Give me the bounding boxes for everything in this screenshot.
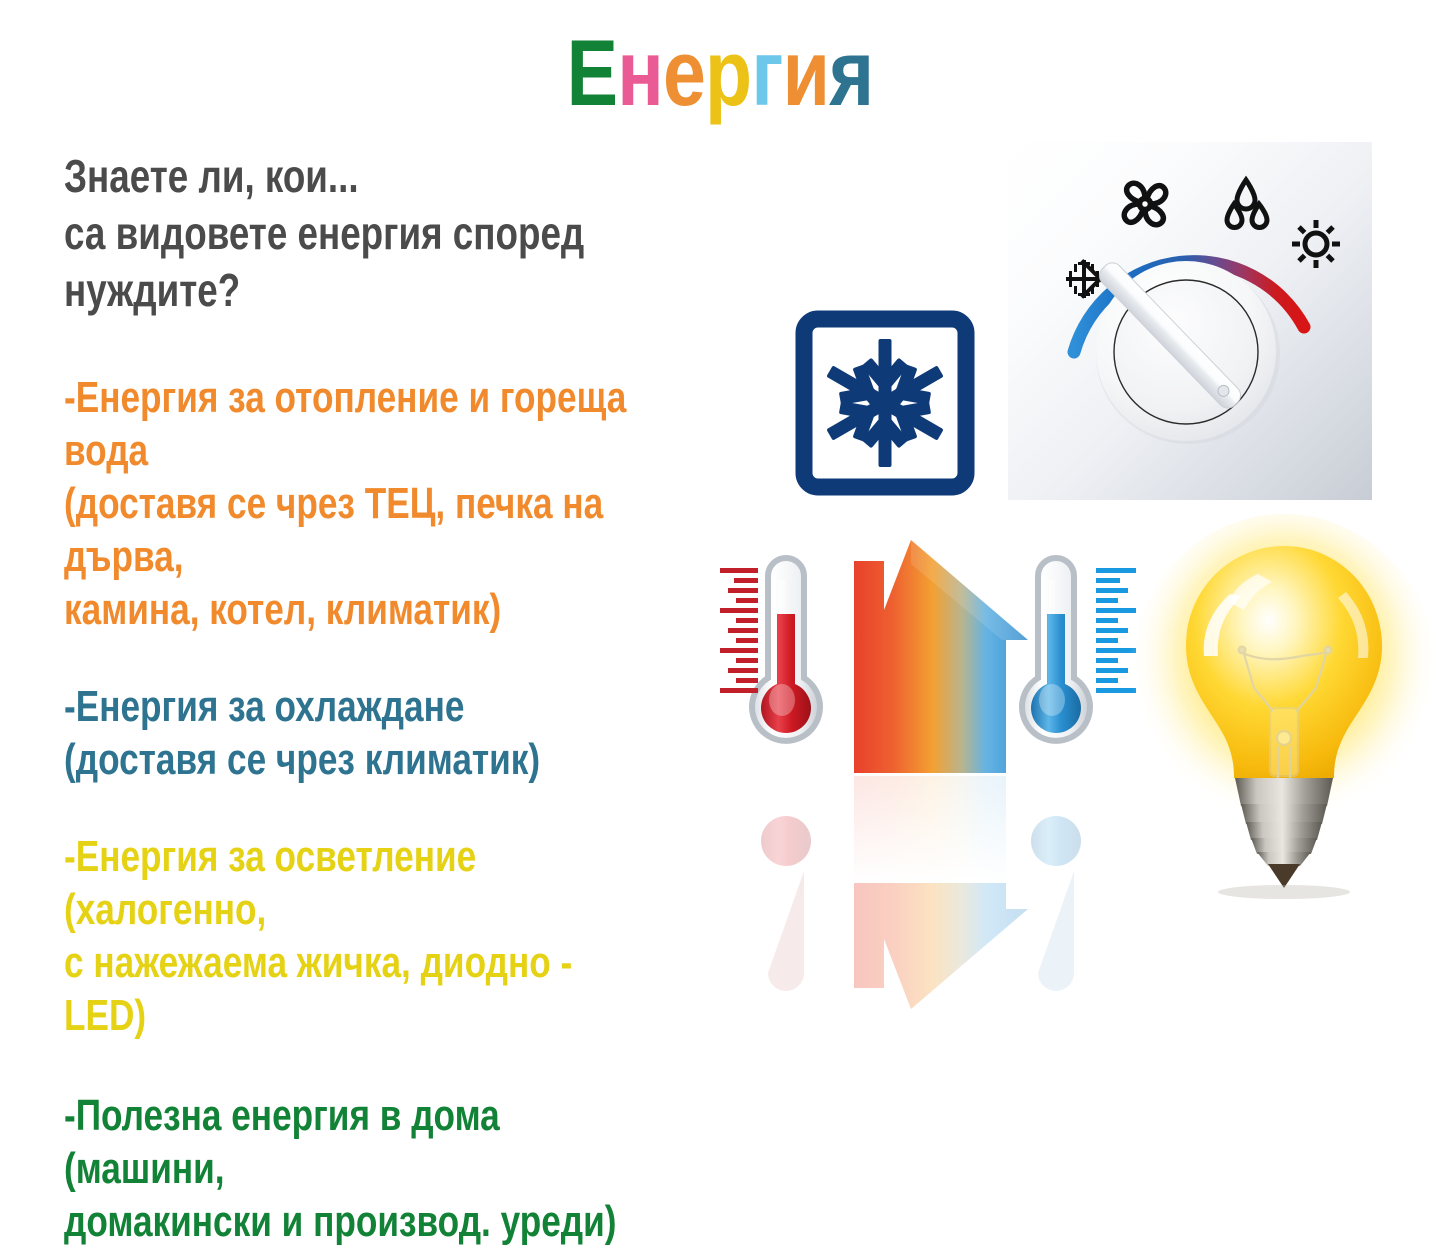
thermostat-dial-photo — [1008, 142, 1372, 500]
snowflake-badge-icon — [795, 310, 975, 496]
title-letter-1: Е — [567, 26, 618, 120]
energy-item-appliances: -Полезна енергия в дома (машини, домакин… — [64, 1089, 656, 1248]
reflection-fade — [826, 773, 1056, 883]
sun-icon — [1292, 220, 1340, 268]
fan-icon — [1124, 183, 1166, 225]
title-letter-2: н — [617, 26, 663, 120]
energy-item-lighting: -Енергия за осветление (халогенно, с наж… — [64, 830, 656, 1042]
content-text-column: Знаете ли, кои... са видовете енергия сп… — [64, 148, 804, 1248]
title-letter-6: и — [783, 26, 830, 120]
bulb-shadow — [1218, 885, 1350, 899]
title-letter-3: е — [663, 26, 705, 120]
house-shape — [854, 540, 1028, 773]
thermostat-svg — [1008, 142, 1372, 500]
page-title: Енергия — [130, 26, 1311, 120]
title-letter-4: р — [705, 26, 751, 120]
energy-item-heating: -Енергия за отопление и гореща вода (дос… — [64, 371, 656, 636]
light-bulb-illustration — [1122, 506, 1440, 898]
cold-thermometer-reflection — [1031, 816, 1081, 991]
title-letter-5: г — [751, 26, 782, 120]
water-drops-icon — [1227, 180, 1267, 228]
question-text: Знаете ли, кои... са видовете енергия сп… — [64, 148, 656, 319]
house-temperature-illustration — [706, 528, 1136, 896]
title-letter-7: я — [829, 26, 873, 120]
snowflake-icon — [1066, 259, 1104, 299]
hot-thermometer — [752, 558, 820, 741]
hot-scale-marks — [720, 568, 758, 693]
thermostat-knob[interactable] — [1095, 259, 1280, 444]
energy-item-cooling: -Енергия за охлаждане (доставя се чрез к… — [64, 680, 656, 786]
bulb-screw-base — [1235, 778, 1333, 888]
cold-thermometer — [1022, 558, 1090, 741]
